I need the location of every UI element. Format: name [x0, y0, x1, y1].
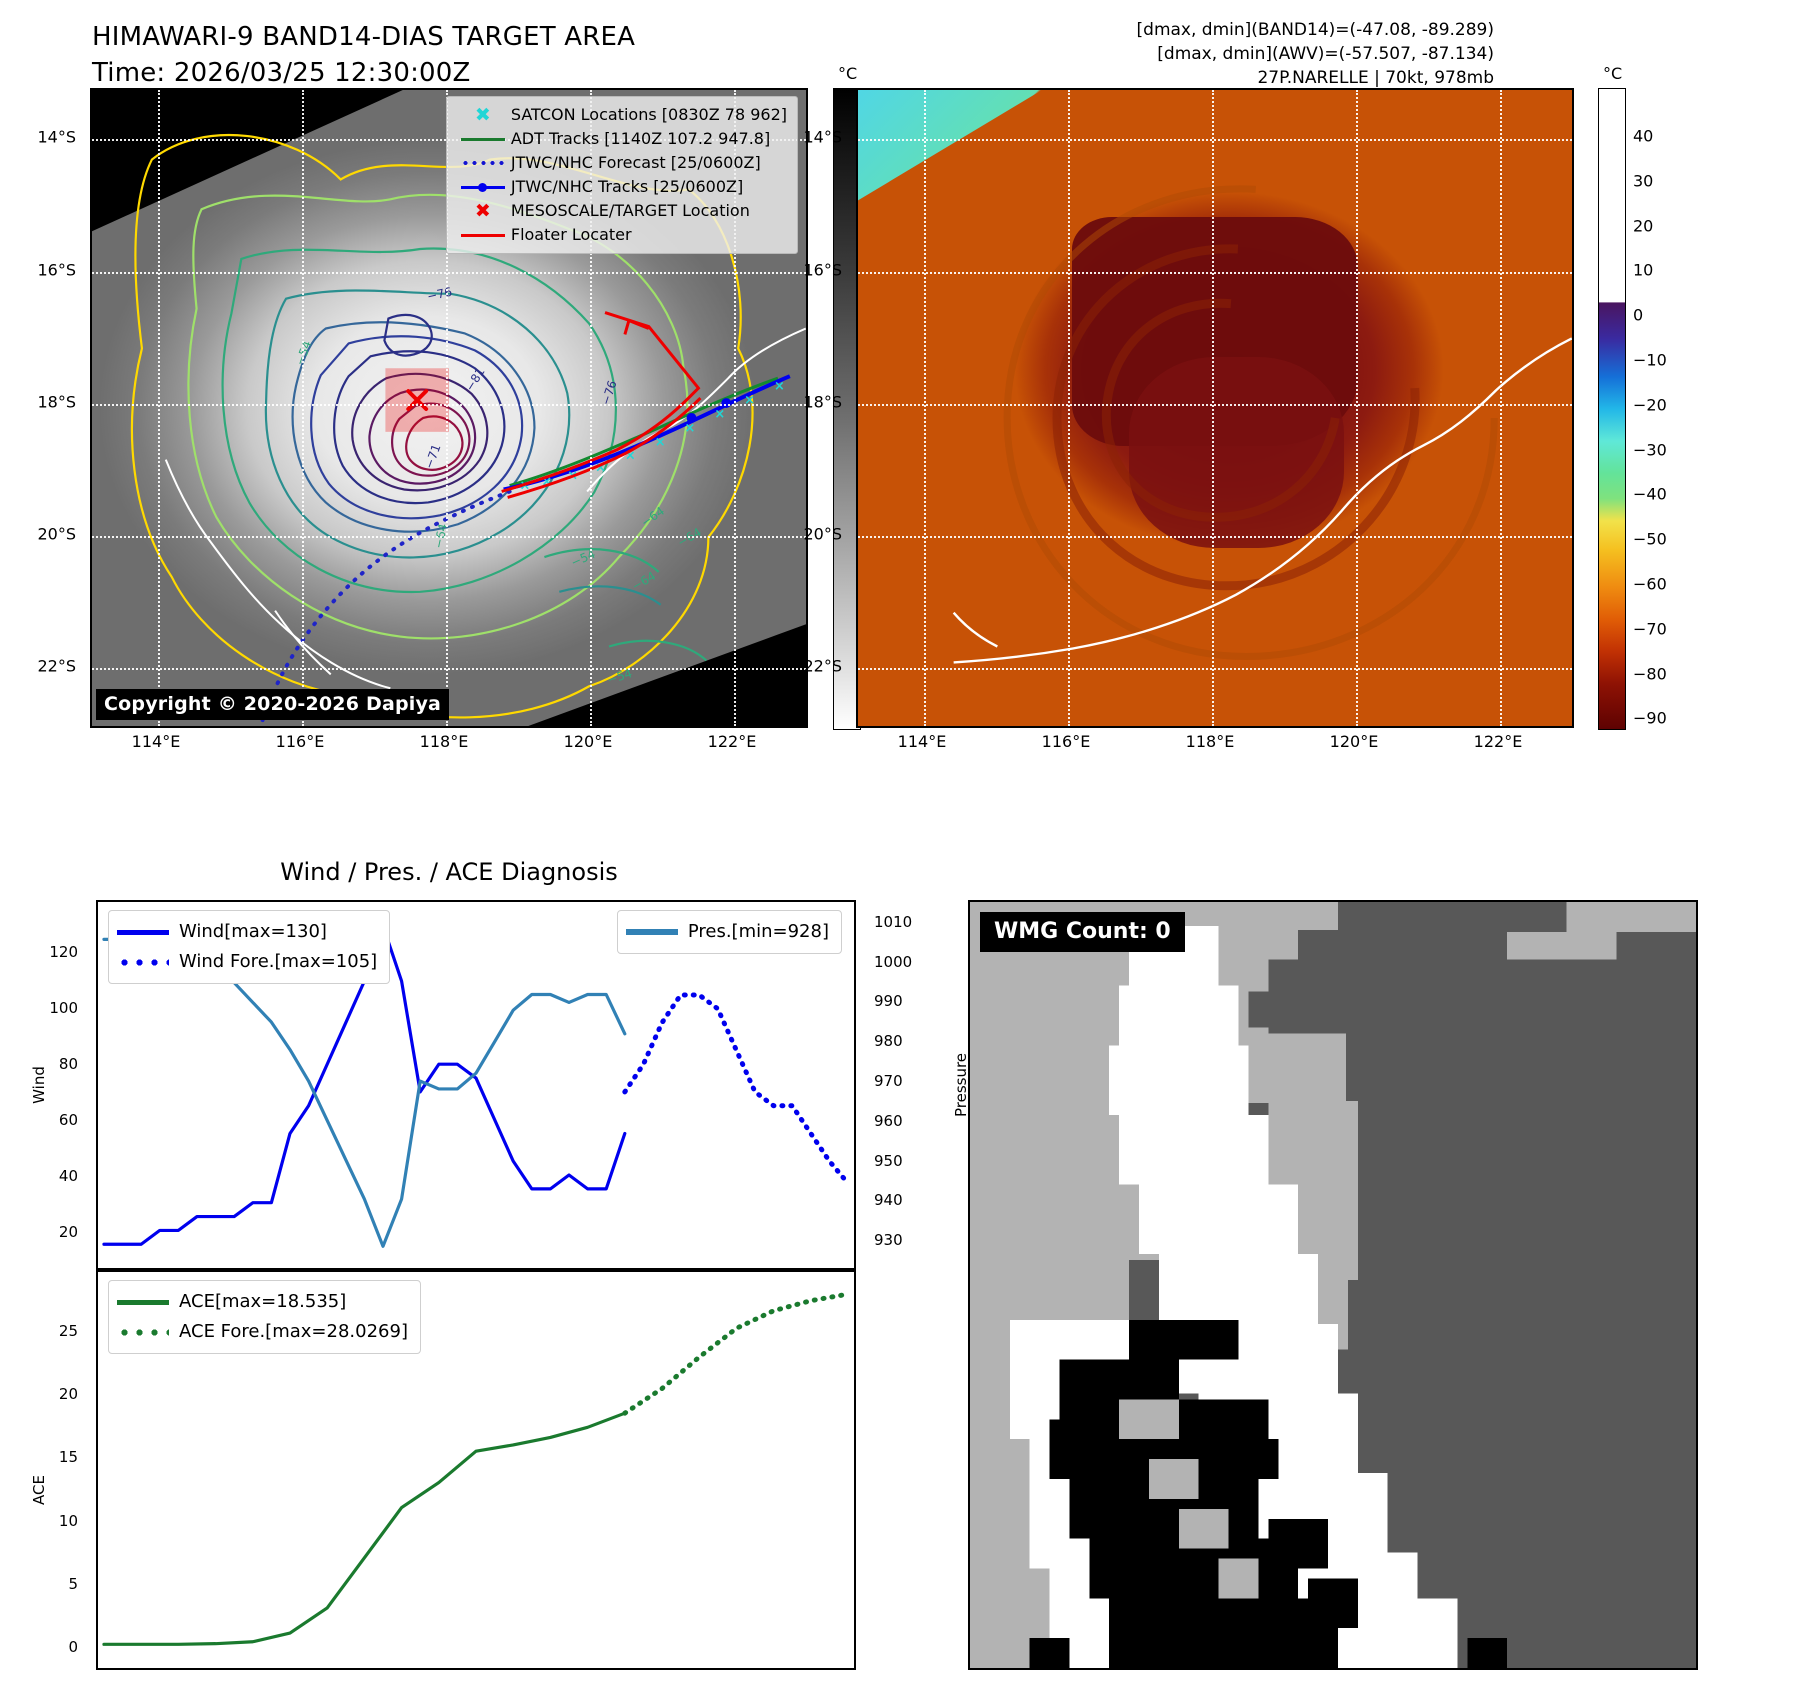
svg-text:−64: −64	[629, 569, 658, 594]
colorbar-tick: 0	[1633, 306, 1643, 325]
wmg-count-badge: WMG Count: 0	[980, 912, 1185, 952]
axis-tick-label: 1010	[874, 913, 912, 931]
legend-label-satcon: SATCON Locations [0830Z 78 962]	[511, 107, 787, 123]
line-green-icon-2	[117, 1300, 179, 1305]
spiral-bands	[858, 90, 1572, 726]
axis-tick-label: 80	[59, 1055, 78, 1073]
colorbar-tick: −10	[1633, 351, 1667, 370]
xtick-r-122E: 122°E	[1474, 732, 1523, 751]
axis-tick-label: 40	[59, 1167, 78, 1185]
dmax-dmin-band14: [dmax, dmin](BAND14)=(-47.08, -89.289)	[874, 18, 1494, 42]
dmax-dmin-awv: [dmax, dmin](AWV)=(-57.507, -87.134)	[874, 42, 1494, 66]
pressure-legend[interactable]: Pres.[min=928]	[617, 910, 842, 954]
legend-item-wind[interactable]: Wind[max=130]	[117, 917, 377, 947]
map-left-xaxis: 114°E 116°E 118°E 120°E 122°E	[90, 732, 808, 762]
axis-tick-label: 950	[874, 1152, 903, 1170]
legend-item-mesoscale[interactable]: ✖ MESOSCALE/TARGET Location	[455, 199, 787, 223]
axis-tick-label: 5	[68, 1575, 78, 1593]
svg-text:×: ×	[655, 435, 666, 450]
axis-tick-label: 940	[874, 1191, 903, 1209]
svg-text:−64: −64	[675, 525, 704, 550]
colorbar-tick: 30	[1633, 171, 1653, 190]
colorbar-tick: −80	[1633, 664, 1667, 683]
colorbar-tick: −30	[1633, 440, 1667, 459]
ytick-14S: 14°S	[37, 128, 76, 147]
ytick-r-22S: 22°S	[803, 657, 842, 676]
copyright-banner: Copyright © 2020-2026 Dapiya	[96, 689, 449, 720]
wind-pressure-chart[interactable]: Wind[max=130] Wind Fore.[max=105] Pres.[…	[96, 900, 856, 1270]
svg-text:×: ×	[685, 421, 696, 436]
storm-summary: 27P.NARELLE | 70kt, 978mb	[874, 66, 1494, 90]
dotted-blue-icon	[455, 161, 511, 165]
line-blue-icon	[117, 930, 179, 935]
ytick-22S: 22°S	[37, 657, 76, 676]
legend-item-satcon[interactable]: ✖ SATCON Locations [0830Z 78 962]	[455, 103, 787, 127]
axis-tick-label: 20	[59, 1223, 78, 1241]
line-green-icon	[455, 138, 511, 141]
colorbar-tick: −90	[1633, 709, 1667, 728]
svg-text:×: ×	[744, 393, 755, 408]
wmg-panel[interactable]: WMG Count: 0	[968, 900, 1698, 1670]
colorbar-right-title: °C	[1603, 64, 1622, 83]
colorbar-tick: 10	[1633, 261, 1653, 280]
ytick-r-16S: 16°S	[803, 261, 842, 280]
colorbar-right-ticks: 403020100−10−20−30−40−50−60−70−80−90	[1598, 88, 1624, 728]
legend-item-adt[interactable]: ADT Tracks [1140Z 107.2 947.8]	[455, 127, 787, 151]
legend-label-jtwc-forecast: JTWC/NHC Forecast [25/0600Z]	[511, 155, 761, 171]
legend-label-mesoscale: MESOSCALE/TARGET Location	[511, 203, 750, 219]
axis-tick-label: 980	[874, 1032, 903, 1050]
colorbar-tick: −70	[1633, 619, 1667, 638]
xtick-116E: 116°E	[276, 732, 325, 751]
legend-label-wind-forecast: Wind Fore.[max=105]	[179, 953, 377, 971]
legend-item-floater[interactable]: Floater Locater	[455, 223, 787, 247]
colorbar-tick: 20	[1633, 216, 1653, 235]
xtick-114E: 114°E	[132, 732, 181, 751]
series-wind-fore-max-105-	[625, 995, 848, 1183]
axis-tick-label: 100	[49, 999, 78, 1017]
axis-tick-label: 25	[59, 1322, 78, 1340]
xtick-r-116E: 116°E	[1042, 732, 1091, 751]
legend-label-ace: ACE[max=18.535]	[179, 1293, 346, 1311]
title-line-2: Time: 2026/03/25 12:30:00Z	[92, 56, 635, 92]
svg-text:−71: −71	[422, 442, 444, 470]
ytick-20S: 20°S	[37, 525, 76, 544]
legend-label-adt: ADT Tracks [1140Z 107.2 947.8]	[511, 131, 770, 147]
legend-item-ace-forecast[interactable]: ACE Fore.[max=28.0269]	[117, 1317, 408, 1347]
ytick-r-18S: 18°S	[803, 393, 842, 412]
axis-tick-label: 1000	[874, 953, 912, 971]
ace-legend[interactable]: ACE[max=18.535] ACE Fore.[max=28.0269]	[108, 1280, 421, 1354]
axis-tick-label: 0	[68, 1638, 78, 1656]
axis-tick-label: 15	[59, 1448, 78, 1466]
legend-label-wind: Wind[max=130]	[179, 923, 327, 941]
legend-item-jtwc-forecast[interactable]: JTWC/NHC Forecast [25/0600Z]	[455, 151, 787, 175]
svg-text:×: ×	[714, 407, 725, 422]
legend-label-floater: Floater Locater	[511, 227, 632, 243]
axis-tick-label: 930	[874, 1231, 903, 1249]
svg-text:−81: −81	[463, 365, 488, 394]
ytick-r-20S: 20°S	[803, 525, 842, 544]
svg-text:−64: −64	[638, 504, 667, 530]
line-steelblue-icon	[626, 929, 688, 935]
colorbar-tick: −50	[1633, 530, 1667, 549]
map-right-yaxis: 14°S 16°S 18°S 20°S 22°S	[766, 88, 852, 728]
legend-item-jtwc-tracks[interactable]: JTWC/NHC Tracks [25/0600Z]	[455, 175, 787, 199]
axis-tick-label: 120	[49, 943, 78, 961]
xtick-r-114E: 114°E	[898, 732, 947, 751]
legend-item-pressure[interactable]: Pres.[min=928]	[626, 917, 829, 947]
diagnosis-title: Wind / Pres. / ACE Diagnosis	[90, 858, 808, 886]
dotted-green-icon	[117, 1329, 179, 1336]
ytick-r-14S: 14°S	[803, 128, 842, 147]
xtick-r-118E: 118°E	[1186, 732, 1235, 751]
svg-text:−64: −64	[431, 522, 450, 550]
line-red-icon	[455, 234, 511, 237]
map-left-yaxis: 14°S 16°S 18°S 20°S 22°S	[0, 88, 86, 728]
series-pres-min-928-	[104, 939, 625, 1246]
ace-axis-label: ACE	[30, 1475, 48, 1505]
satellite-map-enhanced-ir[interactable]	[856, 88, 1574, 728]
ytick-16S: 16°S	[37, 261, 76, 280]
axis-tick-label: 60	[59, 1111, 78, 1129]
header-stats: [dmax, dmin](BAND14)=(-47.08, -89.289) […	[874, 18, 1494, 90]
colorbar-left-title: °C	[838, 64, 857, 83]
wind-legend[interactable]: Wind[max=130] Wind Fore.[max=105]	[108, 910, 390, 984]
colorbar-tick: −40	[1633, 485, 1667, 504]
wmg-mask-raster	[970, 902, 1696, 1668]
cross-cyan-icon: ✖	[455, 106, 511, 125]
map-legend[interactable]: ✖ SATCON Locations [0830Z 78 962] ADT Tr…	[446, 96, 798, 254]
axis-tick-label: 20	[59, 1385, 78, 1403]
page-title: HIMAWARI-9 BAND14-DIAS TARGET AREA Time:…	[92, 20, 635, 92]
legend-item-wind-forecast[interactable]: Wind Fore.[max=105]	[117, 947, 377, 977]
colorbar-tick: −20	[1633, 395, 1667, 414]
xtick-120E: 120°E	[564, 732, 613, 751]
series-ace-max-18-535-	[104, 1413, 625, 1644]
wind-axis-label: Wind	[30, 1066, 48, 1104]
legend-label-pressure: Pres.[min=928]	[688, 923, 829, 941]
series-ace-fore-max-28-0269-	[625, 1294, 848, 1413]
xtick-118E: 118°E	[420, 732, 469, 751]
axis-tick-label: 960	[874, 1112, 903, 1130]
axis-tick-label: 970	[874, 1072, 903, 1090]
axis-tick-label: 990	[874, 992, 903, 1010]
xtick-r-120E: 120°E	[1330, 732, 1379, 751]
colorbar-tick: −60	[1633, 575, 1667, 594]
cross-red-icon: ✖	[455, 202, 511, 221]
svg-text:−54: −54	[293, 339, 315, 367]
xtick-122E: 122°E	[708, 732, 757, 751]
line-marker-blue-icon	[455, 183, 511, 191]
title-line-1: HIMAWARI-9 BAND14-DIAS TARGET AREA	[92, 20, 635, 56]
ytick-18S: 18°S	[37, 393, 76, 412]
colorbar-tick: 40	[1633, 127, 1653, 146]
dotted-blue-icon-2	[117, 959, 179, 966]
satellite-map-band14[interactable]: −76 −81 −76 −71 −54 −64 −64 −64 −64 −54 …	[90, 88, 808, 728]
ace-yaxis: 0510152025	[0, 1270, 92, 1670]
ace-chart[interactable]: ACE[max=18.535] ACE Fore.[max=28.0269]	[96, 1270, 856, 1670]
svg-text:−54: −54	[606, 666, 634, 687]
legend-item-ace[interactable]: ACE[max=18.535]	[117, 1287, 408, 1317]
svg-text:−76: −76	[426, 285, 454, 304]
legend-label-jtwc-tracks: JTWC/NHC Tracks [25/0600Z]	[511, 179, 743, 195]
legend-label-ace-forecast: ACE Fore.[max=28.0269]	[179, 1323, 408, 1341]
map-right-xaxis: 114°E 116°E 118°E 120°E 122°E	[856, 732, 1574, 762]
axis-tick-label: 10	[59, 1512, 78, 1530]
